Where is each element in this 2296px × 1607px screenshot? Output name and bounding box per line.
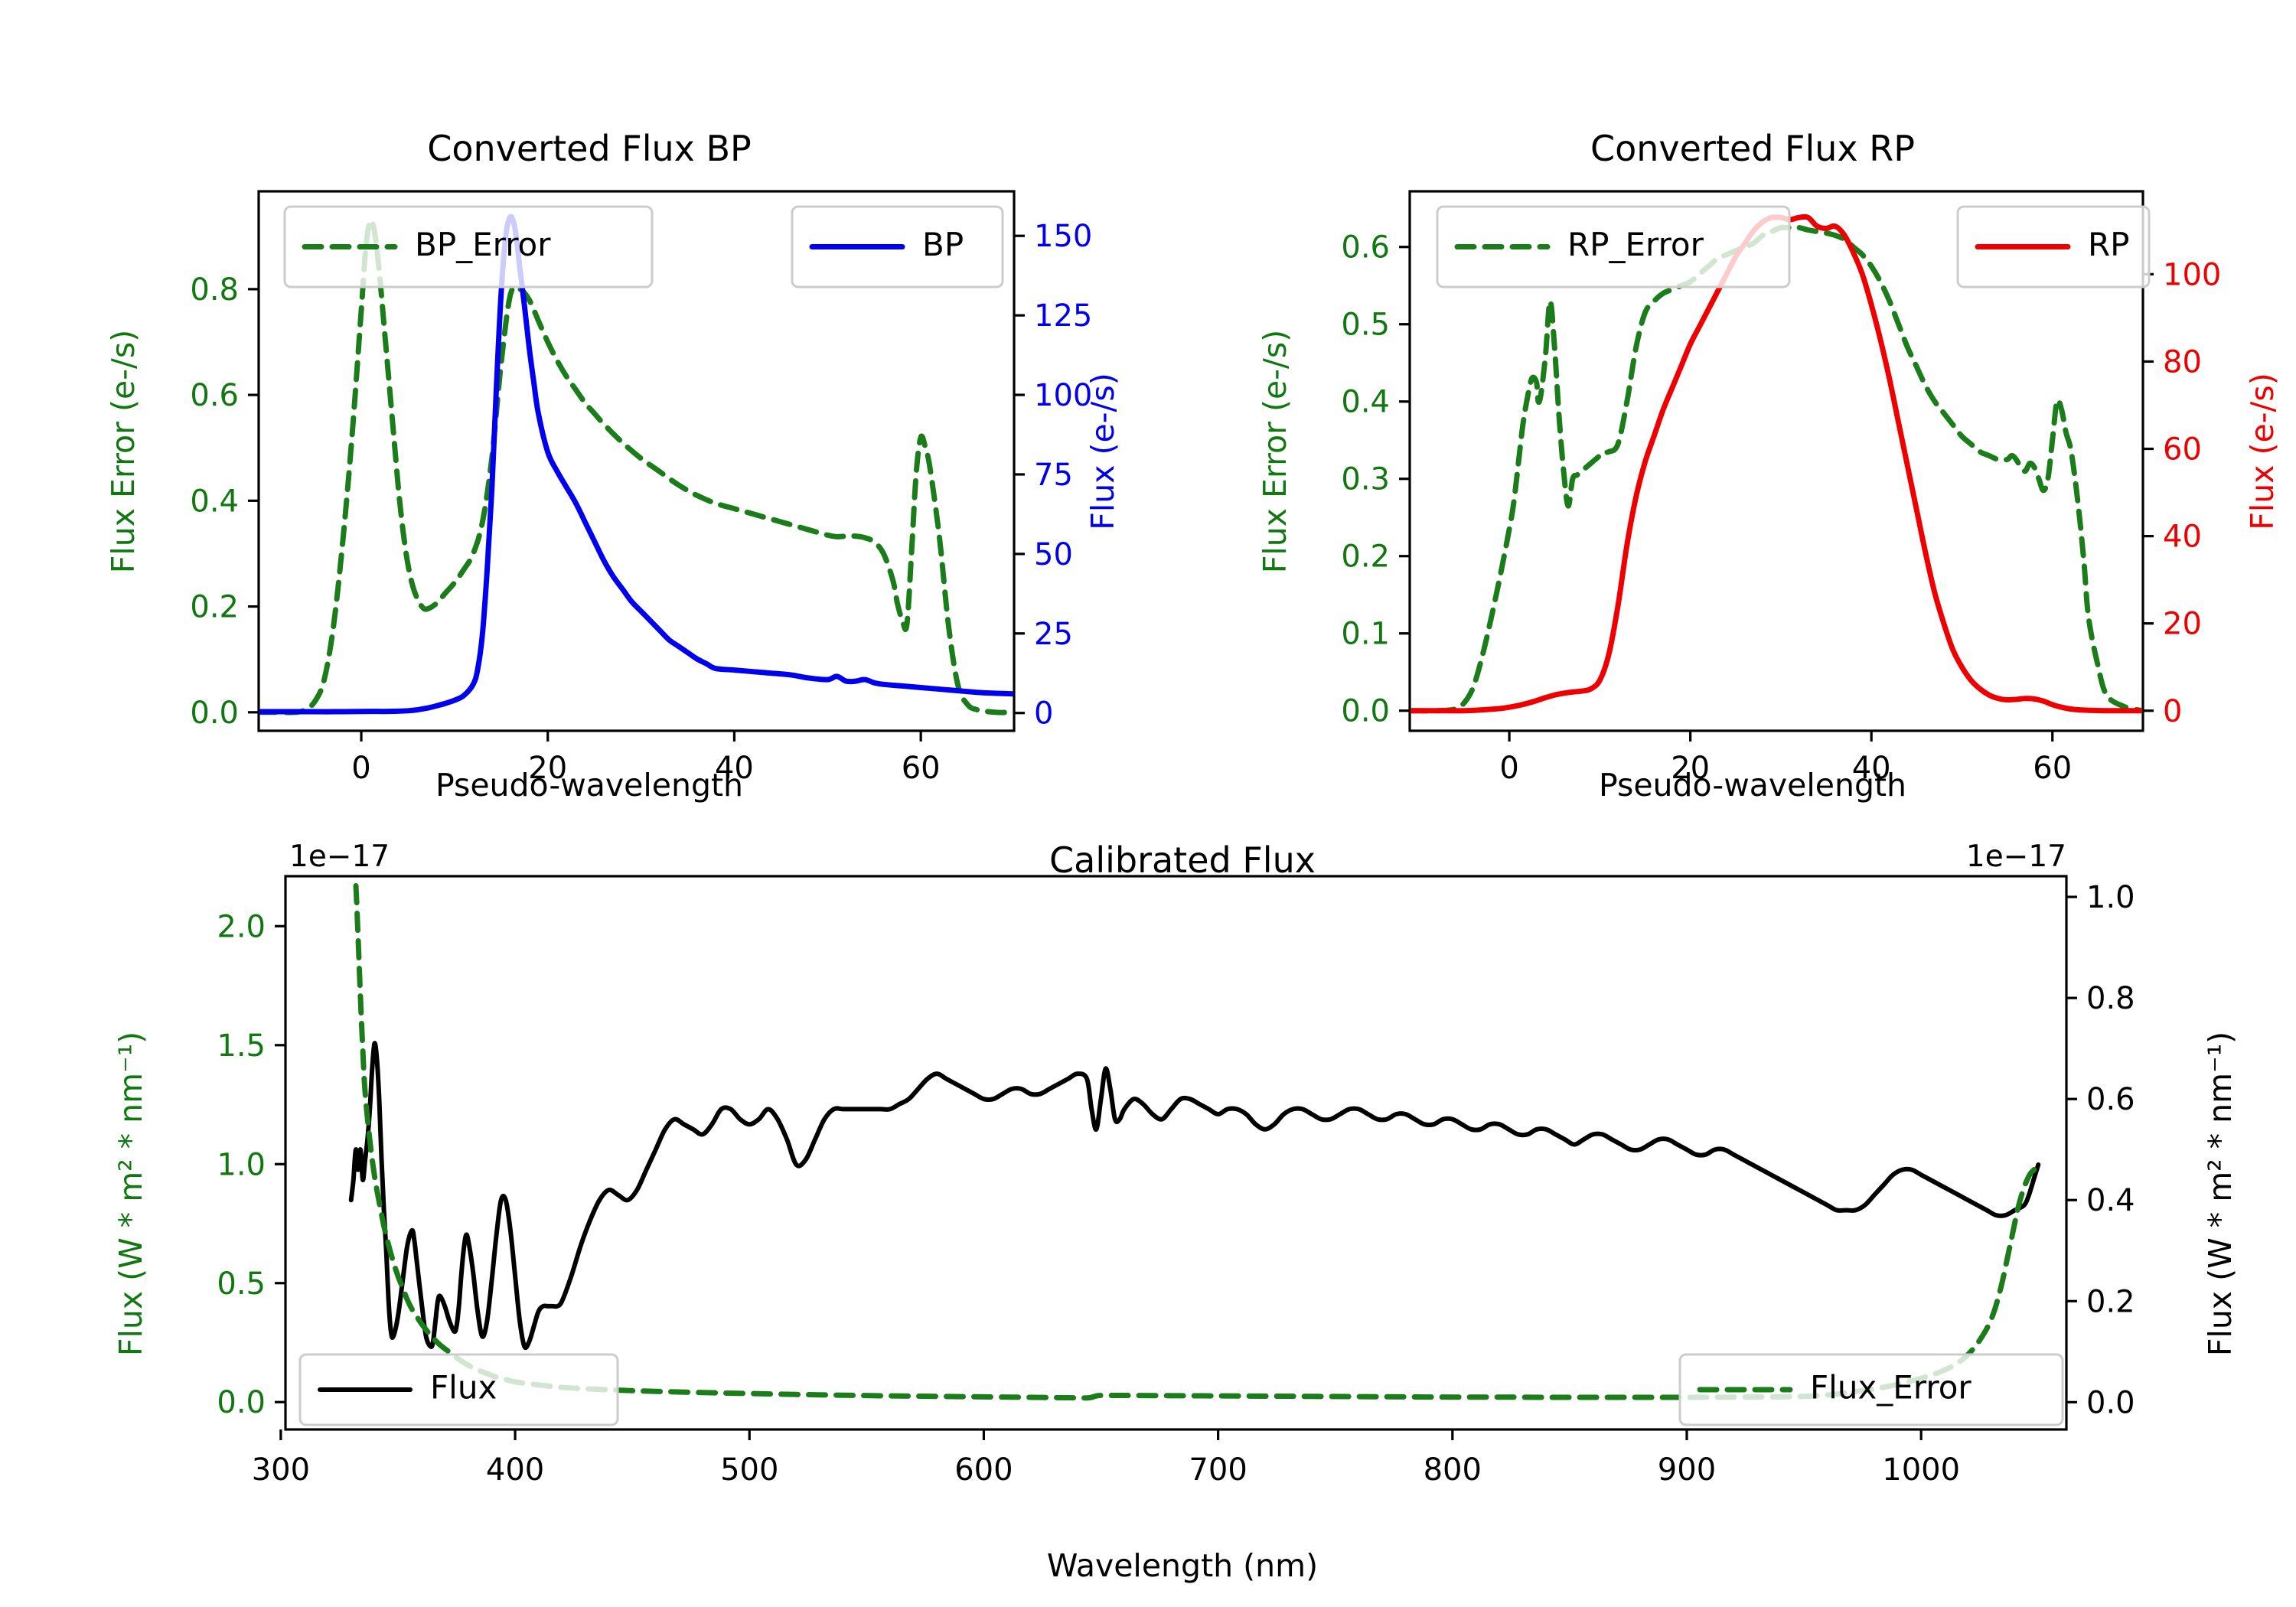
figure-root: Converted Flux BP 02040600.00.20.40.60.8… (0, 0, 2296, 1607)
rp-legend-rp-label: RP (2088, 226, 2130, 263)
rp-yticklabel-right: 40 (2163, 520, 2202, 555)
bp-yaxis-right-label: Flux (e-/s) (1084, 373, 1121, 530)
cal-yticklabel-right: 0.4 (2086, 1183, 2135, 1218)
rp-title: Converted Flux RP (1590, 128, 1915, 169)
cal-legend-flux[interactable]: Flux (300, 1354, 618, 1425)
panel-converted-flux-bp: Converted Flux BP 02040600.00.20.40.60.8… (0, 0, 1148, 811)
calibrated-yaxis-right-label: Flux (W * m² * nm⁻¹) (2202, 1032, 2239, 1356)
bp-yticklabel-left: 0.0 (190, 696, 239, 731)
rp-yticklabel-right: 0 (2163, 694, 2182, 729)
bp-yticklabel-left: 0.8 (190, 272, 239, 308)
rp-xaxis-label: Pseudo-wavelength (1599, 767, 1906, 803)
bp-legend-error-label: BP_Error (415, 226, 551, 263)
cal-xticklabel: 1000 (1882, 1452, 1960, 1488)
rp-yticklabel-right: 100 (2163, 257, 2221, 292)
bp-yticklabel-right: 100 (1034, 378, 1092, 413)
bp-yticklabel-right: 75 (1034, 458, 1073, 493)
bp-yticklabel-left: 0.4 (190, 484, 239, 519)
rp-xticklabel: 0 (1499, 751, 1518, 786)
panel-calibrated-flux: Calibrated Flux 1e−17 1e−17 300400500600… (0, 811, 2296, 1607)
rp-legend-error[interactable]: RP_Error (1437, 207, 1789, 287)
rp-yticklabel-left: 0.5 (1341, 308, 1390, 343)
cal-yticklabel-left: 1.5 (217, 1028, 266, 1064)
bp-series-bp (259, 217, 1014, 712)
rp-xticklabel: 60 (2033, 751, 2072, 786)
cal-yticklabel-left: 1.0 (217, 1147, 266, 1182)
cal-xticklabel: 500 (720, 1452, 778, 1488)
calibrated-xaxis-label: Wavelength (nm) (1047, 1547, 1318, 1584)
cal-axes-frame (285, 876, 2066, 1429)
rp-yticklabel-left: 0.2 (1341, 539, 1390, 575)
rp-yticklabel-left: 0.1 (1341, 617, 1390, 652)
rp-yaxis-right-label: Flux (e-/s) (2244, 373, 2281, 530)
cal-xticklabel: 300 (252, 1452, 310, 1488)
bp-xticklabel: 60 (902, 751, 941, 786)
rp-yticklabel-left: 0.4 (1341, 385, 1390, 420)
calibrated-right-offset-label: 1e−17 (1966, 839, 2066, 874)
bp-plot-svg: Converted Flux BP 02040600.00.20.40.60.8… (0, 0, 1148, 811)
cal-yticklabel-right: 0.2 (2086, 1284, 2135, 1319)
calibrated-yaxis-left-label: Flux (W * m² * nm⁻¹) (113, 1032, 149, 1356)
bp-yticklabel-right: 25 (1034, 617, 1073, 652)
calibrated-title: Calibrated Flux (1049, 839, 1316, 881)
cal-yticklabel-left: 0.0 (217, 1385, 266, 1420)
cal-yticklabel-right: 0.6 (2086, 1082, 2135, 1117)
panel-converted-flux-rp: Converted Flux RP 02040600.00.10.20.30.4… (1148, 0, 2296, 811)
cal-yticklabel-right: 0.8 (2086, 981, 2135, 1016)
rp-legend-rp[interactable]: RP (1958, 207, 2149, 287)
rp-yticklabel-right: 80 (2163, 344, 2202, 380)
bp-yticklabel-right: 50 (1034, 537, 1073, 572)
cal-legend-flux-error[interactable]: Flux_Error (1680, 1354, 2063, 1425)
rp-series-rp_error (1410, 227, 2143, 711)
bp-legend-error[interactable]: BP_Error (285, 207, 652, 287)
cal-legend-flux-error-label: Flux_Error (1810, 1369, 1971, 1407)
cal-xticklabel: 900 (1658, 1452, 1716, 1488)
bp-title: Converted Flux BP (427, 128, 752, 169)
bp-legend-bp-label: BP (922, 226, 964, 263)
cal-yticklabel-left: 0.5 (217, 1266, 266, 1302)
calibrated-left-offset-label: 1e−17 (289, 839, 390, 874)
rp-yticklabel-right: 20 (2163, 607, 2202, 642)
calibrated-plot-svg: Calibrated Flux 1e−17 1e−17 300400500600… (0, 811, 2296, 1607)
cal-yticklabel-right: 1.0 (2086, 880, 2135, 915)
cal-xticklabel: 800 (1424, 1452, 1482, 1488)
rp-yaxis-left-label: Flux Error (e-/s) (1257, 330, 1293, 573)
bp-yticklabel-left: 0.2 (190, 590, 239, 625)
rp-yticklabel-right: 60 (2163, 432, 2202, 468)
bp-yticklabel-right: 0 (1034, 696, 1053, 732)
cal-yticklabel-left: 2.0 (217, 909, 266, 944)
cal-legend-flux-label: Flux (430, 1369, 497, 1407)
bp-xticklabel: 0 (351, 751, 370, 786)
cal-xticklabel: 700 (1189, 1452, 1247, 1488)
bp-legend-bp[interactable]: BP (792, 207, 1003, 287)
rp-yticklabel-left: 0.6 (1341, 230, 1390, 266)
cal-series-flux_error (351, 831, 2039, 1398)
cal-yticklabel-right: 0.0 (2086, 1385, 2135, 1420)
rp-yticklabel-left: 0.0 (1341, 694, 1390, 729)
cal-xticklabel: 600 (954, 1452, 1013, 1488)
bp-series-bp_error (259, 220, 1014, 712)
bp-yticklabel-left: 0.6 (190, 378, 239, 413)
bp-xaxis-label: Pseudo-wavelength (435, 767, 743, 803)
cal-xticklabel: 400 (486, 1452, 544, 1488)
bp-yaxis-left-label: Flux Error (e-/s) (105, 330, 142, 573)
cal-series-flux (351, 1043, 2039, 1348)
bp-yticklabel-right: 150 (1034, 219, 1092, 254)
rp-plot-svg: Converted Flux RP 02040600.00.10.20.30.4… (1148, 0, 2296, 811)
rp-legend-error-label: RP_Error (1567, 226, 1704, 263)
rp-yticklabel-left: 0.3 (1341, 462, 1390, 497)
bp-yticklabel-right: 125 (1034, 298, 1092, 334)
